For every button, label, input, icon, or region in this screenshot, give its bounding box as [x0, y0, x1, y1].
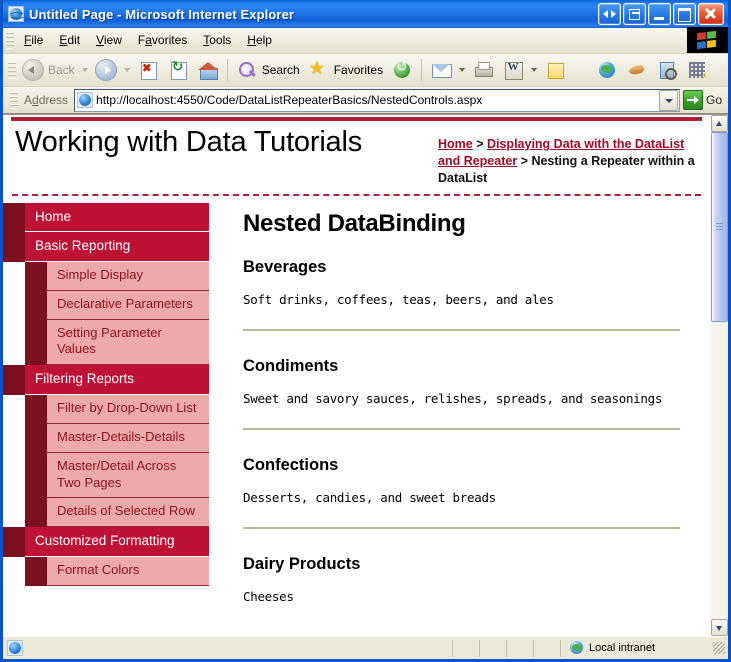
category-divider — [243, 527, 680, 529]
research-icon — [656, 59, 678, 81]
research-button[interactable] — [652, 57, 682, 83]
history-button[interactable] — [387, 57, 417, 83]
category-description: Soft drinks, coffees, teas, beers, and a… — [243, 292, 680, 307]
address-url-text: http://localhost:4550/Code/DataListRepea… — [96, 93, 659, 107]
nav-accent — [25, 557, 47, 586]
sidebar-item-label: Home — [25, 203, 209, 233]
history-icon — [391, 59, 413, 81]
edit-blocks-icon — [686, 59, 708, 81]
sidebar-item-label: Master-Details-Details — [47, 424, 209, 453]
restore-width-button[interactable] — [598, 3, 621, 25]
scrollbar-track[interactable] — [711, 132, 728, 619]
forward-button[interactable] — [91, 57, 121, 83]
category-item: Beverages Soft drinks, coffees, teas, be… — [243, 258, 680, 331]
ie-page-icon — [8, 6, 24, 22]
forward-history-chevron-down-icon[interactable] — [124, 68, 130, 72]
nav-accent — [25, 262, 47, 291]
page-viewport: Working with Data Tutorials Home > Displ… — [3, 114, 728, 636]
sidebar-item-master-details-details[interactable]: Master-Details-Details — [3, 424, 209, 453]
sidebar-item-label: Setting Parameter Values — [47, 320, 209, 366]
vertical-scrollbar[interactable] — [710, 115, 728, 636]
sidebar-item-label: Format Colors — [47, 557, 209, 586]
page-title: Working with Data Tutorials — [15, 127, 362, 159]
menu-tools[interactable]: Tools — [195, 30, 239, 51]
nav-accent — [25, 291, 47, 320]
status-cell-4 — [534, 640, 561, 657]
go-label: Go — [706, 93, 722, 107]
category-divider — [243, 329, 680, 331]
main-content: Nested DataBinding Beverages Soft drinks… — [209, 196, 710, 626]
favorites-star-icon — [308, 59, 330, 81]
sidebar-item-label: Filtering Reports — [25, 365, 209, 395]
category-name: Beverages — [243, 258, 680, 277]
nav-accent — [25, 498, 47, 527]
internet-zone-icon — [569, 640, 585, 656]
go-arrow-icon — [683, 90, 703, 110]
navigation-toolbar: Back Search Favorites — [3, 54, 728, 87]
scrollbar-thumb[interactable] — [711, 132, 728, 322]
messenger-icon — [626, 59, 648, 81]
edit-blocks-button[interactable] — [682, 57, 712, 83]
status-cell-1 — [453, 640, 480, 657]
sidebar-item-label: Master/Detail Across Two Pages — [47, 453, 209, 499]
refresh-icon — [167, 59, 189, 81]
sidebar-item-filtering-reports[interactable]: Filtering Reports — [3, 365, 209, 395]
nav-accent — [3, 527, 25, 557]
status-message — [27, 640, 453, 657]
sidebar-item-label: Declarative Parameters — [47, 291, 209, 320]
back-button[interactable]: Back — [18, 57, 79, 83]
refresh-button[interactable] — [163, 57, 193, 83]
scroll-up-button[interactable] — [711, 115, 728, 132]
sidebar-nav: Home Basic Reporting Simple Display — [3, 196, 209, 586]
edit-chevron-down-icon[interactable] — [531, 68, 537, 72]
menu-help[interactable]: Help — [239, 30, 280, 51]
home-icon — [197, 59, 219, 81]
sidebar-item-format-colors[interactable]: Format Colors — [3, 557, 209, 586]
toolbar-gripper[interactable] — [8, 62, 16, 79]
security-zone-label: Local intranet — [589, 642, 655, 654]
sidebar-item-filter-by-drop-down-list[interactable]: Filter by Drop-Down List — [3, 395, 209, 424]
category-description: Sweet and savory sauces, relishes, sprea… — [243, 391, 680, 406]
breadcrumb-home-link[interactable]: Home — [438, 137, 473, 151]
resize-grip[interactable] — [713, 642, 725, 654]
mail-chevron-down-icon[interactable] — [459, 68, 465, 72]
go-button[interactable]: Go — [680, 88, 728, 112]
menu-favorites[interactable]: Favorites — [130, 30, 195, 51]
address-gripper[interactable] — [10, 92, 18, 109]
scroll-down-button[interactable] — [711, 619, 728, 636]
close-button[interactable] — [698, 3, 724, 25]
category-name: Condiments — [243, 357, 680, 376]
sidebar-item-label: Customized Formatting — [25, 527, 209, 557]
breadcrumb: Home > Displaying Data with the DataList… — [438, 127, 700, 187]
search-label: Search — [262, 63, 300, 77]
nav-accent — [25, 320, 47, 366]
status-cell-3 — [507, 640, 534, 657]
menu-view[interactable]: View — [88, 30, 130, 51]
search-button[interactable]: Search — [232, 57, 304, 83]
window-controls — [598, 3, 724, 25]
sidebar-item-simple-display[interactable]: Simple Display — [3, 262, 209, 291]
favorites-button[interactable]: Favorites — [304, 57, 387, 83]
sidebar-item-label: Simple Display — [47, 262, 209, 291]
menu-gripper[interactable] — [6, 32, 14, 49]
back-icon — [22, 59, 44, 81]
menu-bar: File Edit View Favorites Tools Help — [3, 28, 728, 54]
menu-edit[interactable]: Edit — [51, 30, 88, 51]
globe-button[interactable] — [592, 57, 622, 83]
print-icon — [472, 59, 494, 81]
forward-icon — [95, 59, 117, 81]
windows-flag-logo — [687, 27, 728, 53]
web-page: Working with Data Tutorials Home > Displ… — [3, 115, 710, 636]
stop-button[interactable] — [133, 57, 163, 83]
page-icon — [77, 92, 93, 108]
menu-file[interactable]: File — [16, 30, 51, 51]
category-description: Desserts, candies, and sweet breads — [243, 490, 680, 505]
category-item: Dairy Products Cheeses — [243, 555, 680, 604]
nav-accent — [25, 395, 47, 424]
category-item: Condiments Sweet and savory sauces, reli… — [243, 357, 680, 430]
toolbar-separator-2 — [421, 59, 422, 81]
search-icon — [236, 59, 258, 81]
address-label: Address — [20, 93, 74, 107]
edit-word-button[interactable] — [498, 57, 528, 83]
sidebar-item-label: Details of Selected Row — [47, 498, 209, 527]
globe-icon — [596, 59, 618, 81]
nav-accent — [3, 365, 25, 395]
sidebar-item-basic-reporting[interactable]: Basic Reporting — [3, 232, 209, 262]
messenger-button[interactable] — [622, 57, 652, 83]
breadcrumb-sep-2: > — [517, 154, 531, 168]
minimize-button[interactable] — [648, 3, 671, 25]
nav-accent — [3, 203, 25, 233]
mail-button[interactable] — [426, 57, 456, 83]
address-chevron-down-icon[interactable] — [659, 90, 678, 111]
nav-accent — [25, 453, 47, 499]
restore-height-button[interactable] — [623, 3, 646, 25]
notes-button[interactable] — [540, 57, 570, 83]
home-button[interactable] — [193, 57, 223, 83]
address-input[interactable]: http://localhost:4550/Code/DataListRepea… — [74, 89, 680, 112]
window-title: Untitled Page - Microsoft Internet Explo… — [29, 7, 294, 22]
sidebar-item-declarative-parameters[interactable]: Declarative Parameters — [3, 291, 209, 320]
stop-icon — [137, 59, 159, 81]
sidebar-item-customized-formatting[interactable]: Customized Formatting — [3, 527, 209, 557]
browser-window: Untitled Page - Microsoft Internet Explo… — [0, 0, 731, 662]
title-bar: Untitled Page - Microsoft Internet Explo… — [3, 0, 728, 28]
breadcrumb-sep-1: > — [473, 137, 487, 151]
page-header: Working with Data Tutorials Home > Displ… — [3, 121, 710, 187]
back-history-chevron-down-icon[interactable] — [82, 68, 88, 72]
category-item: Confections Desserts, candies, and sweet… — [243, 456, 680, 529]
toolbar-gap — [574, 59, 588, 81]
sidebar-item-label: Filter by Drop-Down List — [47, 395, 209, 424]
sidebar-item-setting-parameter-values[interactable]: Setting Parameter Values — [3, 320, 209, 366]
content-heading: Nested DataBinding — [243, 210, 680, 238]
browser-chrome: File Edit View Favorites Tools Help Back — [3, 28, 728, 114]
sidebar-item-home[interactable]: Home — [3, 203, 209, 233]
category-name: Dairy Products — [243, 555, 680, 574]
sidebar-item-label: Basic Reporting — [25, 232, 209, 262]
print-button[interactable] — [468, 57, 498, 83]
notes-icon — [544, 59, 566, 81]
address-bar: Address http://localhost:4550/Code/DataL… — [3, 87, 728, 114]
toolbar-separator — [227, 59, 228, 81]
favorites-label: Favorites — [334, 63, 383, 77]
back-label: Back — [48, 63, 75, 77]
category-description: Cheeses — [243, 589, 680, 604]
nav-accent — [25, 424, 47, 453]
status-bar: Local intranet — [3, 636, 728, 659]
edit-word-icon — [502, 59, 524, 81]
category-name: Confections — [243, 456, 680, 475]
status-page-icon — [7, 640, 23, 656]
mail-icon — [430, 59, 452, 81]
sidebar-item-master-detail-across-two-pages[interactable]: Master/Detail Across Two Pages — [3, 453, 209, 499]
sidebar-item-details-of-selected-row[interactable]: Details of Selected Row — [3, 498, 209, 527]
category-divider — [243, 428, 680, 430]
security-zone[interactable]: Local intranet — [561, 640, 713, 657]
nav-accent — [3, 232, 25, 262]
maximize-button[interactable] — [673, 3, 696, 25]
status-cell-2 — [480, 640, 507, 657]
